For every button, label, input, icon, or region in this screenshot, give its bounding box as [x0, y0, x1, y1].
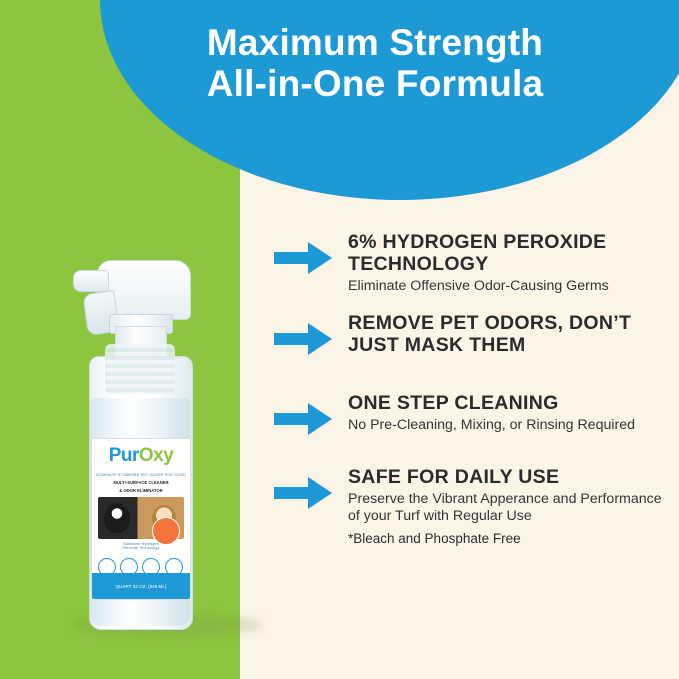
- feature-heading-4: SAFE FOR DAILY USE: [348, 467, 672, 489]
- arrow-right-icon: [272, 473, 334, 513]
- brand-logo: PurOxy: [92, 439, 190, 473]
- sprayer-nozzle: [73, 270, 109, 292]
- feature-item-3: ONE STEP CLEANING No Pre-Cleaning, Mixin…: [272, 393, 672, 449]
- brand-logo-text: PurOxy: [109, 445, 174, 467]
- label-size-text: QUART 32 OZ. (946 ML): [92, 573, 190, 599]
- feature-sub-1: Eliminate Offensive Odor-Causing Germs: [348, 278, 672, 295]
- feature-list: 6% HYDROGEN PEROXIDE TECHNOLOGY Eliminat…: [272, 232, 672, 546]
- feature-item-2: REMOVE PET ODORS, DON’T JUST MASK THEM: [272, 313, 672, 369]
- feature-item-1: 6% HYDROGEN PEROXIDE TECHNOLOGY Eliminat…: [272, 232, 672, 295]
- headline-line-1: Maximum Strength: [207, 22, 543, 63]
- dog-photo: [104, 503, 130, 533]
- arrow-right-icon: [272, 319, 334, 359]
- technology-badge: [152, 517, 180, 545]
- feature-heading-1: 6% HYDROGEN PEROXIDE TECHNOLOGY: [348, 232, 672, 276]
- headline-line-2: All-in-One Formula: [95, 63, 655, 104]
- feature-sub-4: Preserve the Vibrant Apperance and Perfo…: [348, 491, 672, 525]
- feature-heading-2: REMOVE PET ODORS, DON’T JUST MASK THEM: [348, 313, 672, 357]
- label-subtitle-1: MULTI-SURFACE CLEANER: [92, 480, 190, 485]
- label-subtitle-2: & ODOR ELIMINATOR: [92, 488, 190, 493]
- arrow-right-icon: [272, 238, 334, 278]
- bottle-grip-ridges: [105, 344, 175, 394]
- label-pet-photo: [98, 497, 184, 539]
- feature-item-4: SAFE FOR DAILY USE Preserve the Vibrant …: [272, 467, 672, 525]
- product-bottle: PurOxy ELIMINATE STUBBORN PET ODORS FOR …: [45, 248, 215, 638]
- label-tech-2: Peroxide Technology: [92, 546, 190, 550]
- arrow-right-icon: [272, 399, 334, 439]
- footnote: *Bleach and Phosphate Free: [348, 531, 672, 546]
- page-title: Maximum Strength All-in-One Formula: [95, 22, 655, 105]
- product-label: PurOxy ELIMINATE STUBBORN PET ODORS FOR …: [91, 438, 191, 600]
- label-tagline: ELIMINATE STUBBORN PET ODORS FOR GOOD: [92, 473, 190, 477]
- feature-heading-3: ONE STEP CLEANING: [348, 393, 672, 415]
- feature-sub-3: No Pre-Cleaning, Mixing, or Rinsing Requ…: [348, 417, 672, 434]
- ad-image: Maximum Strength All-in-One Formula PurO…: [0, 0, 679, 679]
